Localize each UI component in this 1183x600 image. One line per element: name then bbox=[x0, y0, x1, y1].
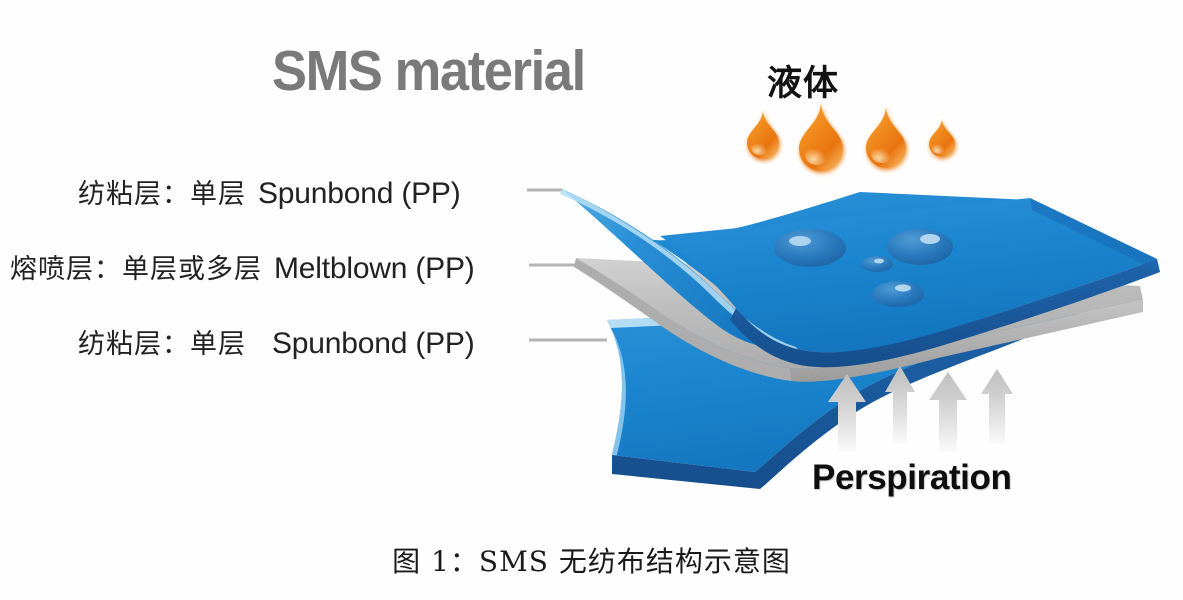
figure-caption: 图 1：SMS 无纺布结构示意图 bbox=[0, 540, 1183, 580]
page-title: SMS material bbox=[272, 38, 585, 104]
liquid-droplet-4 bbox=[929, 118, 955, 157]
layer-label-spunbond-bottom-en: Spunbond (PP) bbox=[272, 327, 475, 361]
sms-structure-illustration bbox=[0, 0, 1183, 600]
layer-label-spunbond-top-en: Spunbond (PP) bbox=[258, 177, 461, 211]
water-bead-1 bbox=[774, 229, 846, 267]
perspiration-arrow-3 bbox=[929, 372, 967, 452]
water-bead-2 bbox=[887, 229, 953, 265]
liquid-droplet-3 bbox=[866, 105, 906, 168]
layer-label-meltblown-en: Meltblown (PP) bbox=[274, 252, 475, 286]
layer-label-meltblown: 熔喷层：单层或多层 Meltblown (PP) bbox=[10, 247, 475, 286]
layer-label-spunbond-bottom-cn: 纺粘层：单层 bbox=[78, 322, 246, 361]
layer-label-spunbond-bottom: 纺粘层：单层 Spunbond (PP) bbox=[78, 322, 475, 361]
water-bead-4 bbox=[872, 281, 924, 307]
perspiration-label: Perspiration bbox=[812, 458, 1011, 498]
layer-label-spunbond-top: 纺粘层：单层 Spunbond (PP) bbox=[78, 172, 461, 211]
liquid-droplets bbox=[747, 101, 955, 171]
layer-label-meltblown-cn: 熔喷层：单层或多层 bbox=[10, 247, 262, 286]
liquid-label: 液体 bbox=[767, 55, 839, 106]
liquid-droplet-2 bbox=[799, 101, 843, 171]
layer-label-spunbond-top-cn: 纺粘层：单层 bbox=[78, 172, 246, 211]
liquid-droplet-1 bbox=[747, 109, 779, 159]
water-bead-3 bbox=[861, 256, 893, 272]
perspiration-arrow-4 bbox=[981, 369, 1013, 444]
diagram-canvas: SMS material 液体 Perspiration 纺粘层：单层 Spun… bbox=[0, 0, 1183, 600]
